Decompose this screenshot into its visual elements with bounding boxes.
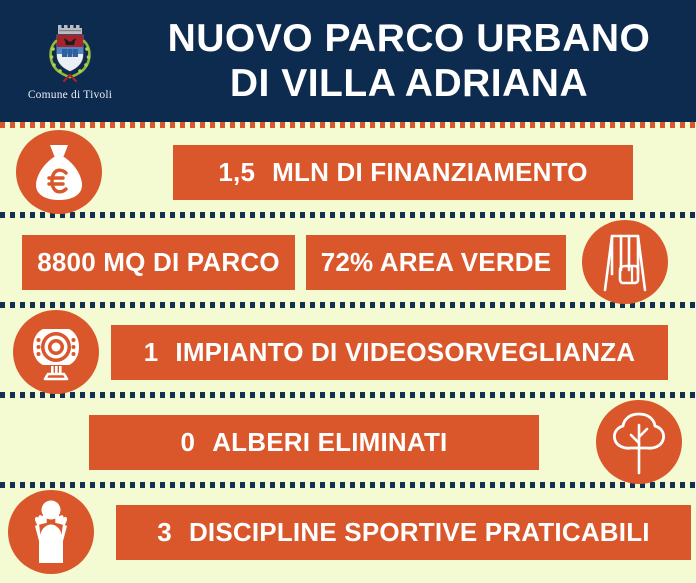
stat-row-sports: 3 DISCIPLINE SPORTIVE PRATICABILI: [0, 490, 696, 574]
playground-swing-icon: [582, 220, 668, 304]
stat-value-financing: 1,5: [218, 159, 255, 185]
header-banner: Comune di Tivoli NUOVO PARCO URBANO DI V…: [0, 0, 696, 122]
stat-label-surveillance: IMPIANTO DI VIDEOSORVEGLIANZA: [175, 339, 635, 365]
stat-row-financing: 1,5 MLN DI FINANZIAMENTO: [0, 130, 696, 214]
logo-caption: Comune di Tivoli: [28, 89, 112, 101]
stat-label-trees: ALBERI ELIMINATI: [212, 429, 447, 455]
tree-icon: [596, 400, 682, 484]
stat-value-surveillance: 1: [144, 339, 159, 365]
stat-label-financing: MLN DI FINANZIAMENTO: [272, 159, 588, 185]
stat-bar-sports: 3 DISCIPLINE SPORTIVE PRATICABILI: [116, 505, 691, 560]
tivoli-coat-of-arms-icon: [44, 21, 96, 87]
stat-bar-financing: 1,5 MLN DI FINANZIAMENTO: [173, 145, 633, 200]
webcam-icon: [13, 310, 99, 394]
stat-label-square-meters: 8800 MQ DI PARCO: [37, 249, 280, 275]
poster-title: NUOVO PARCO URBANO DI VILLA ADRIANA: [140, 16, 696, 106]
title-line-1: NUOVO PARCO URBANO: [140, 16, 678, 61]
money-bag-euro-icon: [16, 130, 102, 214]
stat-row-area: 8800 MQ DI PARCO 72% AREA VERDE: [0, 220, 696, 304]
stat-bar-green-area: 72% AREA VERDE: [306, 235, 566, 290]
stat-bar-square-meters: 8800 MQ DI PARCO: [22, 235, 295, 290]
stat-label-sports: DISCIPLINE SPORTIVE PRATICABILI: [189, 519, 650, 545]
stat-row-surveillance: 1 IMPIANTO DI VIDEOSORVEGLIANZA: [0, 310, 696, 394]
sports-player-ball-icon: [8, 490, 94, 574]
infographic-poster: Comune di Tivoli NUOVO PARCO URBANO DI V…: [0, 0, 696, 583]
divider-dotted-1: [0, 122, 696, 128]
stat-label-green-area: 72% AREA VERDE: [321, 249, 552, 275]
title-line-2: DI VILLA ADRIANA: [140, 61, 678, 106]
stat-value-trees: 0: [181, 429, 196, 455]
stat-bar-surveillance: 1 IMPIANTO DI VIDEOSORVEGLIANZA: [111, 325, 668, 380]
logo-block: Comune di Tivoli: [0, 0, 140, 122]
stat-row-trees: 0 ALBERI ELIMINATI: [0, 400, 696, 484]
stat-value-sports: 3: [157, 519, 172, 545]
stat-bar-trees: 0 ALBERI ELIMINATI: [89, 415, 539, 470]
